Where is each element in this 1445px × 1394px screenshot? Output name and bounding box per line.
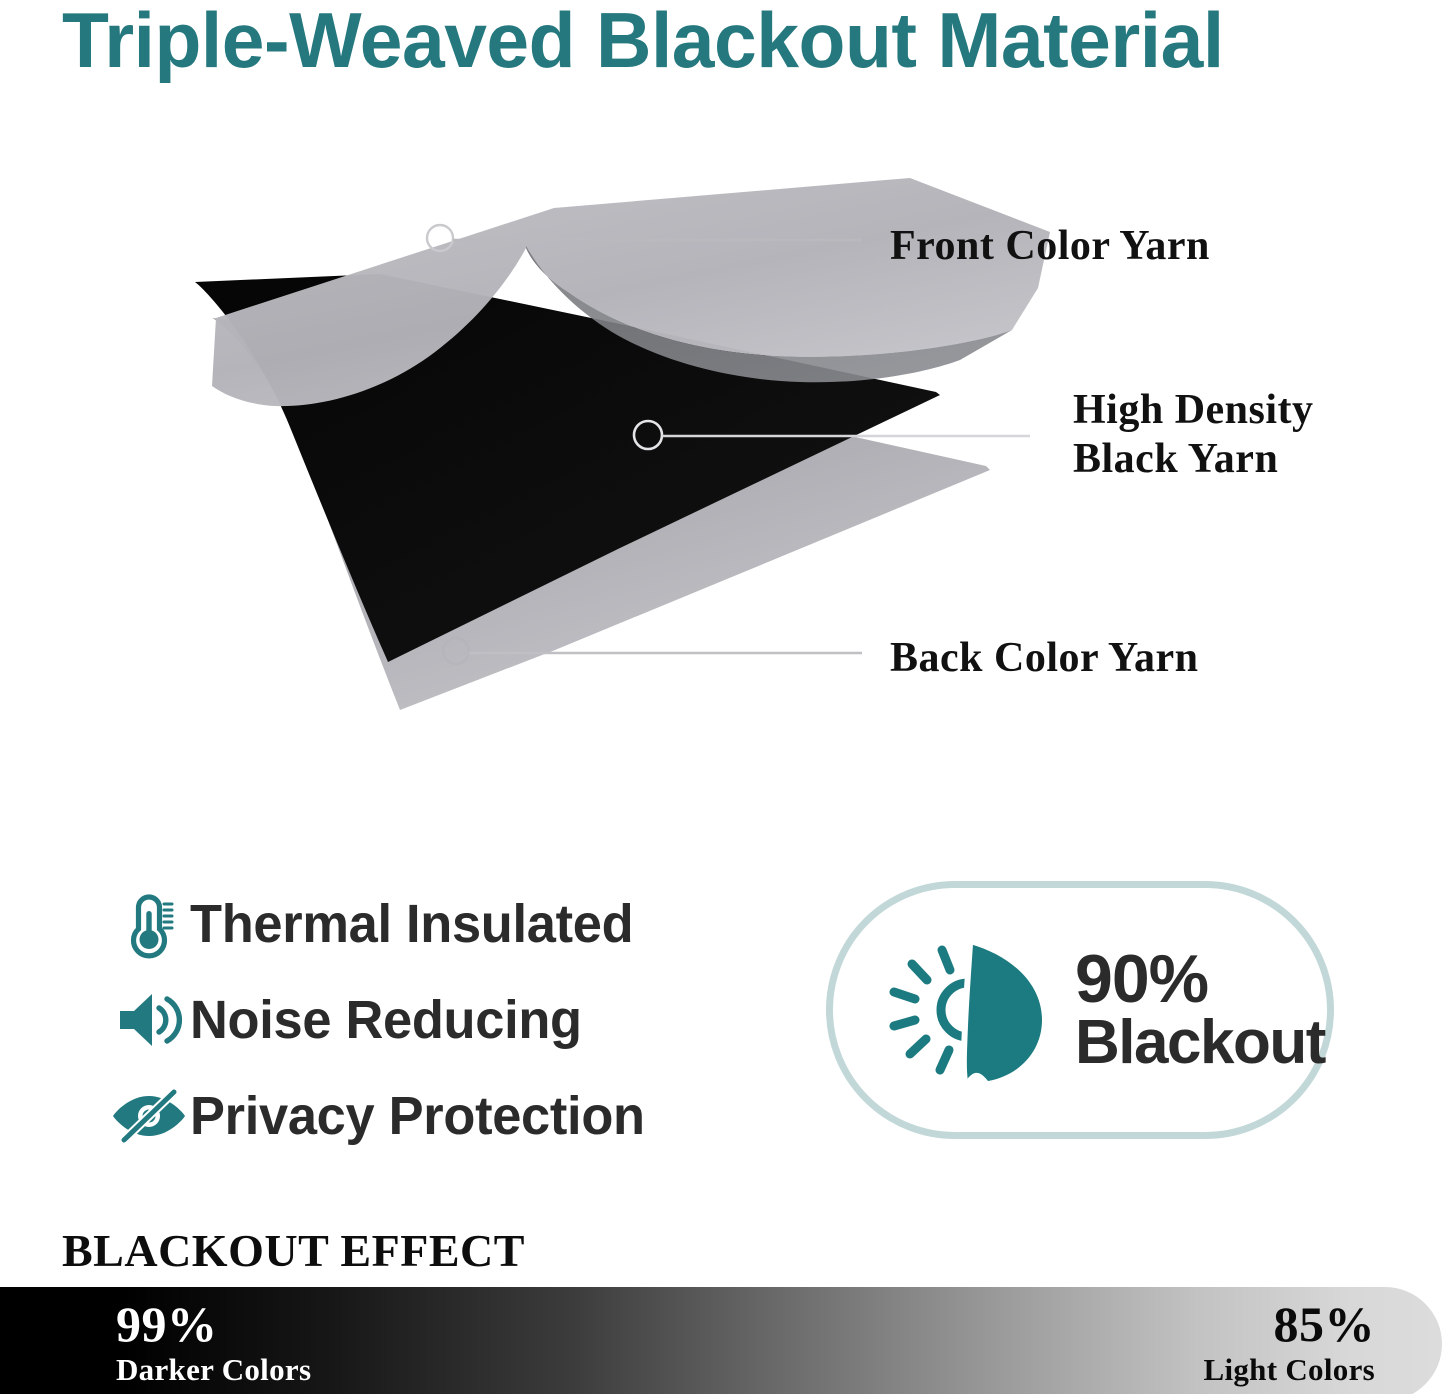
badge-percent: 90% — [1075, 946, 1325, 1013]
darker-colors-percent: 99% — [116, 1296, 311, 1352]
feature-item-noise-reducing: Noise Reducing — [108, 972, 768, 1068]
callout-label-high-density-black-yarn: High Density Black Yarn — [1073, 386, 1403, 484]
feature-label: Thermal Insulated — [190, 893, 633, 955]
feature-label: Noise Reducing — [190, 989, 582, 1051]
badge-text: 90% Blackout — [1075, 946, 1325, 1073]
callout-label-line-2: Black Yarn — [1073, 435, 1403, 484]
infographic-page: Triple-Weaved Blackout Material — [0, 0, 1445, 1394]
page-title: Triple-Weaved Blackout Material — [62, 0, 1382, 86]
callout-label-back-color-yarn: Back Color Yarn — [890, 634, 1199, 682]
badge-word: Blackout — [1075, 1013, 1325, 1074]
blackout-effect-light-colors: 85% Light Colors — [1203, 1296, 1375, 1388]
sun-blocked-icon — [861, 926, 1071, 1094]
light-colors-percent: 85% — [1203, 1296, 1375, 1352]
thermometer-icon — [108, 887, 190, 961]
eye-off-icon — [108, 1088, 190, 1144]
blackout-effect-heading: BLACKOUT EFFECT — [62, 1224, 525, 1277]
feature-label: Privacy Protection — [190, 1085, 645, 1147]
light-colors-label: Light Colors — [1203, 1352, 1375, 1388]
callout-label-front-color-yarn: Front Color Yarn — [890, 222, 1210, 270]
blackout-badge: 90% Blackout — [826, 881, 1334, 1139]
blackout-effect-darker-colors: 99% Darker Colors — [116, 1296, 311, 1388]
darker-colors-label: Darker Colors — [116, 1352, 311, 1388]
feature-list: Thermal Insulated Noise Reducing — [108, 876, 768, 1164]
feature-item-thermal-insulated: Thermal Insulated — [108, 876, 768, 972]
callout-label-line-1: High Density — [1073, 386, 1403, 435]
feature-item-privacy-protection: Privacy Protection — [108, 1068, 768, 1164]
speaker-wave-icon — [108, 988, 190, 1052]
